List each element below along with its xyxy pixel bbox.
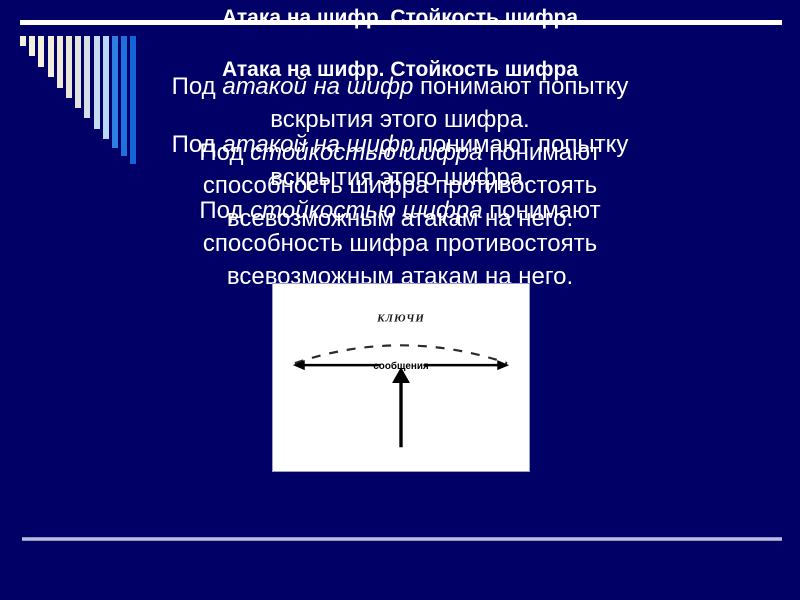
- diagram-right-arrowhead-icon: [497, 360, 509, 370]
- body-paragraph-2: Под стойкостью шифра понимают способност…: [140, 194, 660, 293]
- decor-bar-1: [20, 36, 26, 46]
- p1-emphasis: атакой на шифр: [222, 131, 413, 158]
- decorative-bar-graphic: [20, 36, 160, 166]
- ghost-p1-emphasis: атакой на шифр: [222, 73, 413, 100]
- body-ghost-paragraph-1: Под атакой на шифр понимают попытку вскр…: [140, 70, 660, 136]
- presentation-slide: Атака на шифр. Стойкость шифра Атака на …: [0, 0, 800, 600]
- ghost-p1-lead: Под: [172, 73, 223, 100]
- body-text: Под атакой на шифр понимают попытку вскр…: [140, 128, 660, 293]
- diagram-svg: КЛЮЧИ сообщения: [273, 284, 529, 471]
- decor-bar-9: [94, 36, 100, 129]
- p2-lead: Под: [199, 197, 250, 224]
- decor-bar-11: [112, 36, 118, 148]
- diagram-keys-label: КЛЮЧИ: [376, 313, 425, 325]
- p1-lead: Под: [172, 131, 223, 158]
- footer-rule: [22, 537, 782, 541]
- p2-emphasis: стойкостью шифра: [250, 197, 482, 224]
- decor-bar-12: [121, 36, 127, 156]
- decor-bar-10: [103, 36, 109, 139]
- cipher-diagram-image: КЛЮЧИ сообщения: [272, 283, 530, 472]
- body-paragraph-1: Под атакой на шифр понимают попытку вскр…: [140, 128, 660, 194]
- slide-title: Атака на шифр. Стойкость шифра: [0, 6, 800, 30]
- decor-bar-2: [29, 36, 35, 56]
- decor-bar-13: [130, 36, 136, 164]
